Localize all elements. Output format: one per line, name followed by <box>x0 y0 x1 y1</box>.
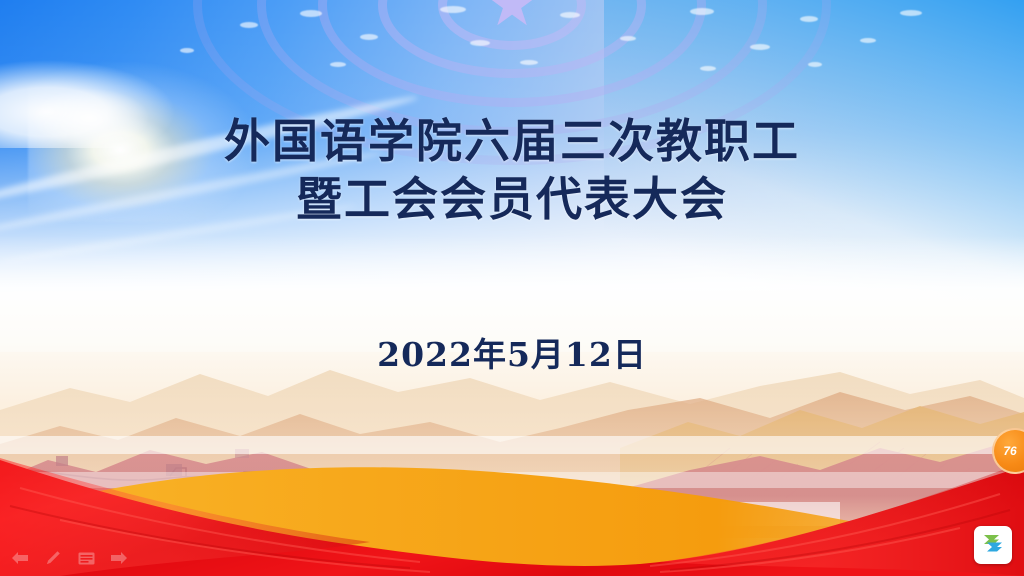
arrow-left-icon <box>11 551 29 565</box>
speckle-cloud <box>800 16 818 22</box>
previous-slide-button[interactable] <box>10 548 30 568</box>
speckle-cloud <box>560 12 580 18</box>
speckle-cloud <box>330 62 346 67</box>
speckle-cloud <box>470 40 490 46</box>
speckle-cloud <box>700 66 716 71</box>
arrow-right-icon <box>110 551 128 565</box>
speckle-cloud <box>750 44 770 50</box>
speckle-cloud <box>360 34 378 40</box>
speckle-cloud <box>440 6 466 13</box>
speckle-cloud <box>690 8 714 15</box>
screen-icon <box>78 552 95 565</box>
speckle-cloud <box>808 62 822 67</box>
speckle-cloud <box>520 60 538 65</box>
red-ribbon <box>0 436 1024 576</box>
pen-icon <box>45 550 61 566</box>
speckle-cloud <box>180 48 194 53</box>
next-slide-button[interactable] <box>109 548 129 568</box>
presentation-slide: ★ <box>0 0 1024 576</box>
ribbon-svg <box>0 436 1024 576</box>
speckle-cloud <box>860 38 876 43</box>
speckle-cloud <box>620 36 636 41</box>
page-number-text: 76 <box>1003 444 1016 458</box>
wps-logo-icon <box>980 530 1006 561</box>
pen-tool-button[interactable] <box>43 548 63 568</box>
slide-date: 2022年5月12日 <box>0 328 1024 376</box>
speckle-cloud <box>240 22 258 28</box>
wps-logo-badge[interactable] <box>974 526 1012 564</box>
speckle-cloud <box>900 10 922 16</box>
playback-toolbar[interactable] <box>10 548 129 568</box>
cloud-left-inner <box>30 88 150 148</box>
speckle-cloud <box>300 10 322 17</box>
slide-menu-button[interactable] <box>76 548 96 568</box>
